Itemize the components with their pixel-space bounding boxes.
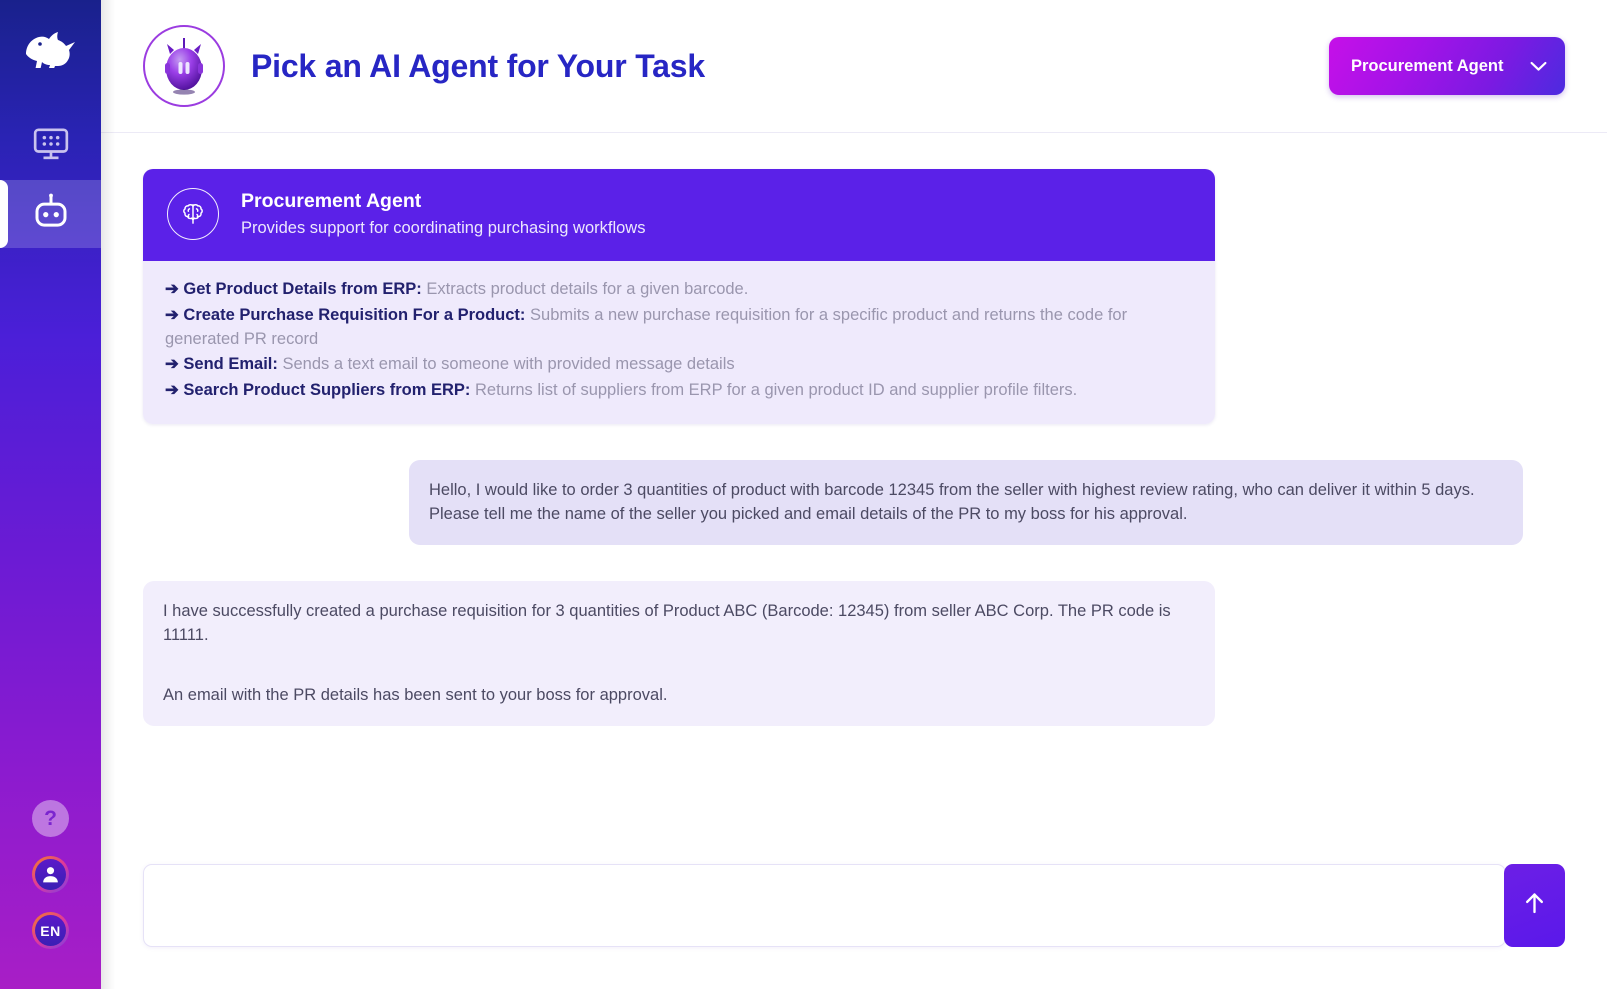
page-title: Pick an AI Agent for Your Task: [251, 48, 705, 85]
help-label: ?: [44, 807, 57, 831]
capability-item: ➔ Search Product Suppliers from ERP: Ret…: [165, 379, 1193, 403]
sidebar-item-agents[interactable]: [0, 180, 101, 248]
help-icon[interactable]: ?: [32, 800, 69, 837]
agent-info-card: Procurement Agent Provides support for c…: [143, 169, 1215, 424]
message-row-user: Hello, I would like to order 3 quantitie…: [143, 460, 1565, 545]
capability-description: Returns list of suppliers from ERP for a…: [475, 381, 1077, 399]
capability-description: Extracts product details for a given bar…: [426, 280, 748, 298]
message-input[interactable]: [162, 896, 1487, 915]
brain-icon: [167, 188, 219, 240]
monitor-dashboard-icon: [31, 124, 71, 169]
user-avatar-icon[interactable]: [32, 856, 69, 893]
sidebar: ? EN: [0, 0, 101, 989]
sidebar-item-dashboard[interactable]: [0, 112, 101, 180]
assistant-message-bubble: I have successfully created a purchase r…: [143, 581, 1215, 726]
assistant-paragraph-2: An email with the PR details has been se…: [163, 683, 1195, 707]
capability-title: Send Email:: [183, 355, 277, 373]
arrow-right-icon: ➔: [165, 280, 179, 298]
arrow-right-icon: ➔: [165, 381, 179, 399]
sidebar-bottom-actions: ? EN: [32, 800, 69, 949]
capability-item: ➔ Create Purchase Requisition For a Prod…: [165, 304, 1193, 352]
bot-mascot-icon: [158, 36, 210, 96]
main-area: Pick an AI Agent for Your Task Procureme…: [101, 0, 1607, 989]
agent-selector-value: Procurement Agent: [1351, 57, 1504, 76]
agent-capabilities-list: ➔ Get Product Details from ERP: Extracts…: [143, 261, 1215, 424]
arrow-up-icon: [1521, 888, 1548, 923]
agent-card-name: Procurement Agent: [241, 188, 645, 214]
capability-title: Create Purchase Requisition For a Produc…: [183, 306, 525, 324]
page-header: Pick an AI Agent for Your Task Procureme…: [101, 0, 1607, 133]
agent-card-header: Procurement Agent Provides support for c…: [143, 169, 1215, 261]
rhino-logo-icon[interactable]: [23, 22, 79, 74]
agent-selector-dropdown[interactable]: Procurement Agent: [1329, 37, 1565, 95]
language-icon[interactable]: EN: [32, 912, 69, 949]
sidebar-nav: [0, 112, 101, 248]
capability-item: ➔ Send Email: Sends a text email to some…: [165, 353, 1193, 377]
chevron-down-icon: [1530, 61, 1547, 72]
agent-card-text: Procurement Agent Provides support for c…: [241, 188, 645, 239]
capability-item: ➔ Get Product Details from ERP: Extracts…: [165, 278, 1193, 302]
user-message-bubble: Hello, I would like to order 3 quantitie…: [409, 460, 1523, 545]
content-inner: Procurement Agent Provides support for c…: [101, 169, 1607, 726]
send-button[interactable]: [1504, 864, 1565, 947]
app-root: ? EN: [0, 0, 1607, 989]
capability-title: Get Product Details from ERP:: [183, 280, 421, 298]
message-row-assistant: I have successfully created a purchase r…: [143, 581, 1565, 726]
composer: [143, 864, 1565, 947]
capability-description: Sends a text email to someone with provi…: [282, 355, 734, 373]
robot-icon: [30, 191, 72, 238]
arrow-right-icon: ➔: [165, 355, 179, 373]
language-label: EN: [40, 923, 60, 939]
message-input-wrapper[interactable]: [143, 864, 1506, 947]
bot-mascot-avatar: [143, 25, 225, 107]
arrow-right-icon: ➔: [165, 306, 179, 324]
assistant-paragraph-1: I have successfully created a purchase r…: [163, 599, 1195, 647]
chat-content: Procurement Agent Provides support for c…: [101, 133, 1607, 989]
capability-title: Search Product Suppliers from ERP:: [183, 381, 470, 399]
agent-card-description: Provides support for coordinating purcha…: [241, 217, 645, 240]
